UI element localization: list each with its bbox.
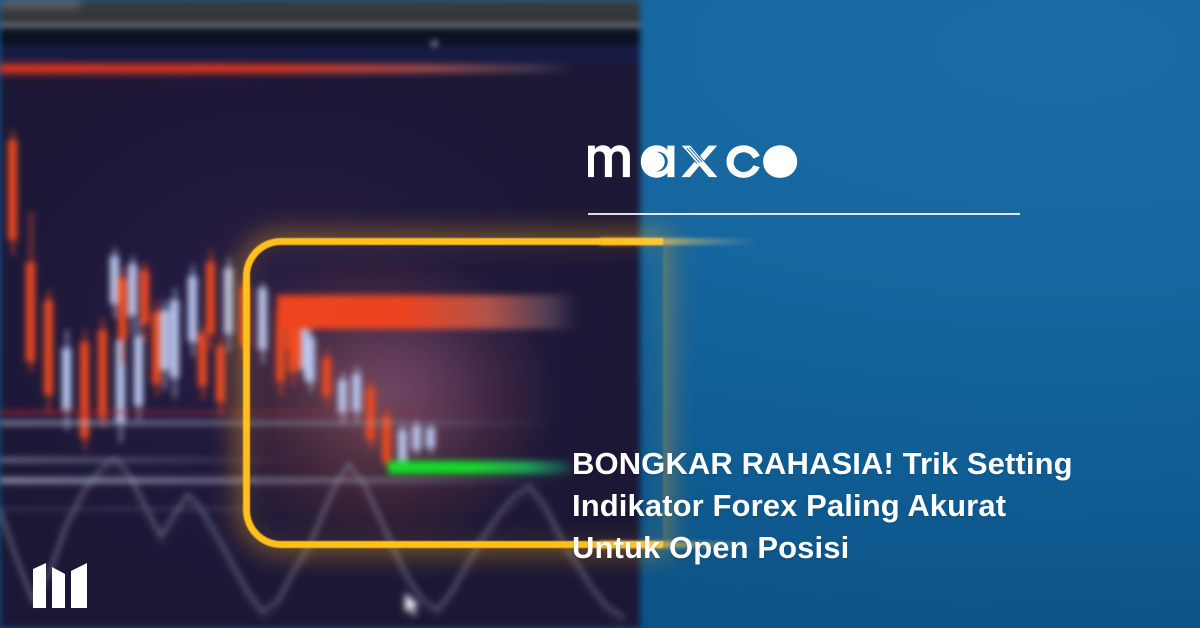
maxco-m-monogram [33, 563, 91, 608]
candle-body [128, 264, 137, 316]
candle-body [224, 268, 233, 334]
candle-body [118, 278, 127, 340]
chart-subtoolbar [0, 27, 640, 45]
mouse-pointer-icon [404, 592, 420, 618]
candle-body [26, 262, 35, 362]
candle-body [170, 300, 179, 378]
candle-body [188, 276, 197, 342]
headline-line-1: BONGKAR RAHASIA! Trik Setting [572, 443, 1172, 485]
headline-line-2: Indikator Forex Paling Akurat [572, 485, 1172, 527]
candle-body [198, 334, 207, 386]
candle-body [216, 346, 225, 402]
social-card: BONGKAR RAHASIA! Trik Setting Indikator … [0, 0, 1200, 628]
candle-body [8, 140, 17, 240]
candle-body [140, 270, 149, 324]
candle-body [62, 348, 71, 410]
brand-divider [588, 213, 1020, 215]
candle-body [160, 310, 169, 370]
candle-body [44, 300, 53, 395]
highlight-box-top-fade [600, 238, 760, 245]
maxco-logo [588, 132, 809, 178]
candle-body [206, 262, 215, 334]
candle-body [98, 330, 107, 418]
headline-line-3: Untuk Open Posisi [572, 527, 1172, 569]
page-title: BONGKAR RAHASIA! Trik Setting Indikator … [572, 443, 1172, 569]
platform-toolbar [0, 0, 640, 24]
chart-top-margin [0, 45, 640, 65]
